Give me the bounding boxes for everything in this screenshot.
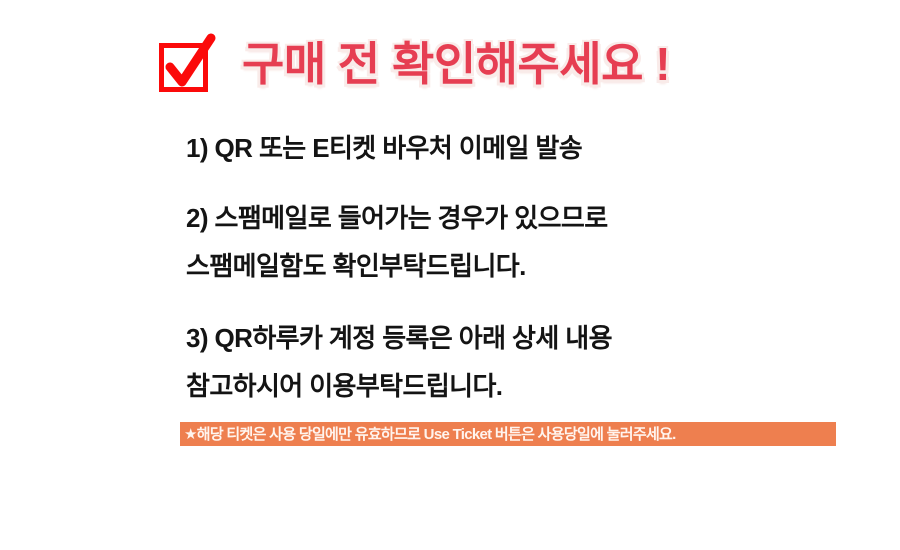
notice-1-line-1: 1) QR 또는 E티켓 바우처 이메일 발송 [186,124,846,172]
list-item: 1) QR 또는 E티켓 바우처 이메일 발송 [186,124,846,172]
notice-card: 구매 전 확인해주세요 ! 1) QR 또는 E티켓 바우처 이메일 발송 2)… [0,0,900,550]
list-item: 3) QR하루카 계정 등록은 아래 상세 내용 참고하시어 이용부탁드립니다. [186,314,846,410]
notice-header: 구매 전 확인해주세요 ! [158,26,670,102]
warning-banner-text: ★해당 티켓은 사용 당일에만 유효하므로 Use Ticket 버튼은 사용당… [184,427,676,442]
warning-banner: ★해당 티켓은 사용 당일에만 유효하므로 Use Ticket 버튼은 사용당… [180,422,836,446]
notice-2-line-2: 스팸메일함도 확인부탁드립니다. [186,242,846,290]
notice-list: 1) QR 또는 E티켓 바우처 이메일 발송 2) 스팸메일로 들어가는 경우… [186,124,846,410]
page-title: 구매 전 확인해주세요 ! [242,41,670,87]
notice-2-line-1: 2) 스팸메일로 들어가는 경우가 있으므로 [186,194,846,242]
notice-3-line-2: 참고하시어 이용부탁드립니다. [186,362,846,410]
list-item: 2) 스팸메일로 들어가는 경우가 있으므로 스팸메일함도 확인부탁드립니다. [186,194,846,290]
notice-3-line-1: 3) QR하루카 계정 등록은 아래 상세 내용 [186,314,846,362]
checked-checkbox-icon [158,35,216,93]
